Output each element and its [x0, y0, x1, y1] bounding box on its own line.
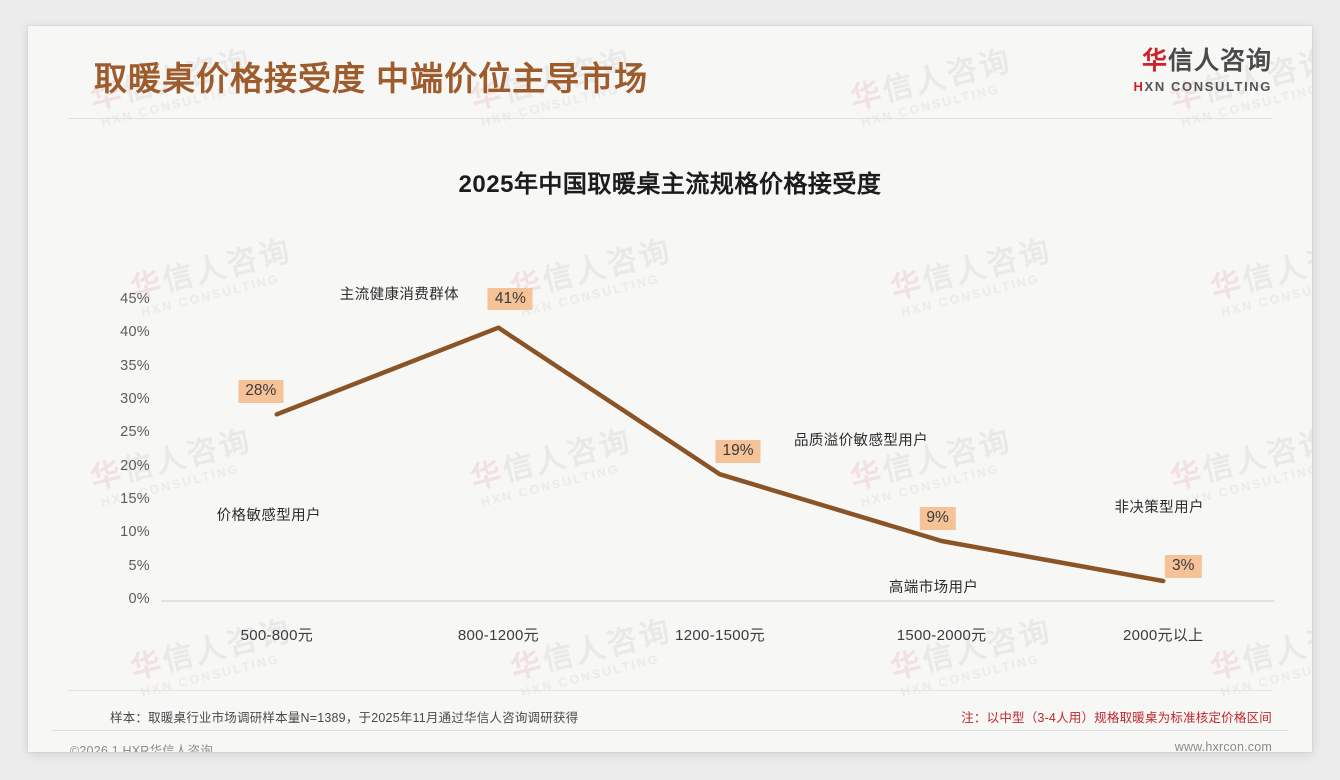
- logo-chinese-accent: 华: [1142, 47, 1168, 75]
- footnote-divider: [68, 690, 1272, 691]
- data-point-value-label: 9%: [919, 507, 955, 530]
- data-point-value-label: 41%: [488, 288, 533, 311]
- header: 取暖桌价格接受度 中端价位主导市场 华信人咨询 HXN CONSULTING: [28, 26, 1312, 118]
- y-axis-tick-label: 45%: [88, 291, 150, 307]
- y-axis-tick-label: 20%: [88, 458, 150, 474]
- sample-footnote: 样本：取暖桌行业市场调研样本量N=1389，于2025年11月通过华信人咨询调研…: [110, 707, 578, 726]
- data-point-annotation: 品质溢价敏感型用户: [794, 429, 928, 450]
- logo-english-rest: XN CONSULTING: [1145, 79, 1272, 94]
- y-axis-tick-label: 15%: [88, 491, 150, 507]
- page-root: 华信人咨询HXN CONSULTING华信人咨询HXN CONSULTING华信…: [0, 0, 1340, 780]
- logo-chinese-rest: 信人咨询: [1168, 47, 1272, 75]
- x-axis-tick-label: 1200-1500元: [675, 624, 765, 645]
- data-point-annotation: 主流健康消费群体: [340, 283, 459, 304]
- x-axis-tick-label: 500-800元: [241, 624, 313, 645]
- logo-english: HXN CONSULTING: [1134, 79, 1272, 94]
- y-axis-tick-label: 10%: [88, 524, 150, 540]
- chart-container: 2025年中国取暖桌主流规格价格接受度 0%5%10%15%20%25%30%3…: [28, 118, 1312, 658]
- slide-card: 华信人咨询HXN CONSULTING华信人咨询HXN CONSULTING华信…: [28, 26, 1312, 752]
- data-point-value-label: 3%: [1165, 555, 1201, 578]
- data-point-annotation: 非决策型用户: [1114, 496, 1203, 517]
- copyright-text: ©2026.1 HXR华信人咨询: [70, 740, 213, 752]
- note-footnote: 注：以中型（3-4人用）规格取暖桌为标准核定价格区间: [961, 707, 1272, 726]
- y-axis-tick-label: 40%: [88, 324, 150, 340]
- page-title: 取暖桌价格接受度 中端价位主导市场: [94, 52, 648, 100]
- line-chart-svg: [28, 118, 1312, 658]
- x-axis-tick-label: 800-1200元: [458, 624, 539, 645]
- y-axis-tick-label: 5%: [88, 558, 150, 574]
- y-axis-tick-label: 25%: [88, 424, 150, 440]
- logo-chinese: 华信人咨询: [1134, 48, 1272, 76]
- data-point-value-label: 19%: [715, 440, 760, 463]
- logo-english-accent: H: [1134, 79, 1145, 94]
- chart-plot-area: 0%5%10%15%20%25%30%35%40%45%500-800元800-…: [28, 118, 1312, 658]
- data-point-annotation: 价格敏感型用户: [217, 504, 321, 525]
- y-axis-tick-label: 30%: [88, 391, 150, 407]
- data-point-annotation: 高端市场用户: [889, 576, 978, 597]
- y-axis-tick-label: 35%: [88, 358, 150, 374]
- y-axis-tick-label: 0%: [88, 591, 150, 607]
- data-point-value-label: 28%: [238, 380, 283, 403]
- x-axis-tick-label: 1500-2000元: [897, 624, 987, 645]
- x-axis-tick-label: 2000元以上: [1123, 624, 1203, 645]
- website-text: www.hxrcon.com: [1175, 740, 1272, 752]
- footer-divider: [52, 730, 1288, 731]
- brand-logo: 华信人咨询 HXN CONSULTING: [1134, 48, 1272, 94]
